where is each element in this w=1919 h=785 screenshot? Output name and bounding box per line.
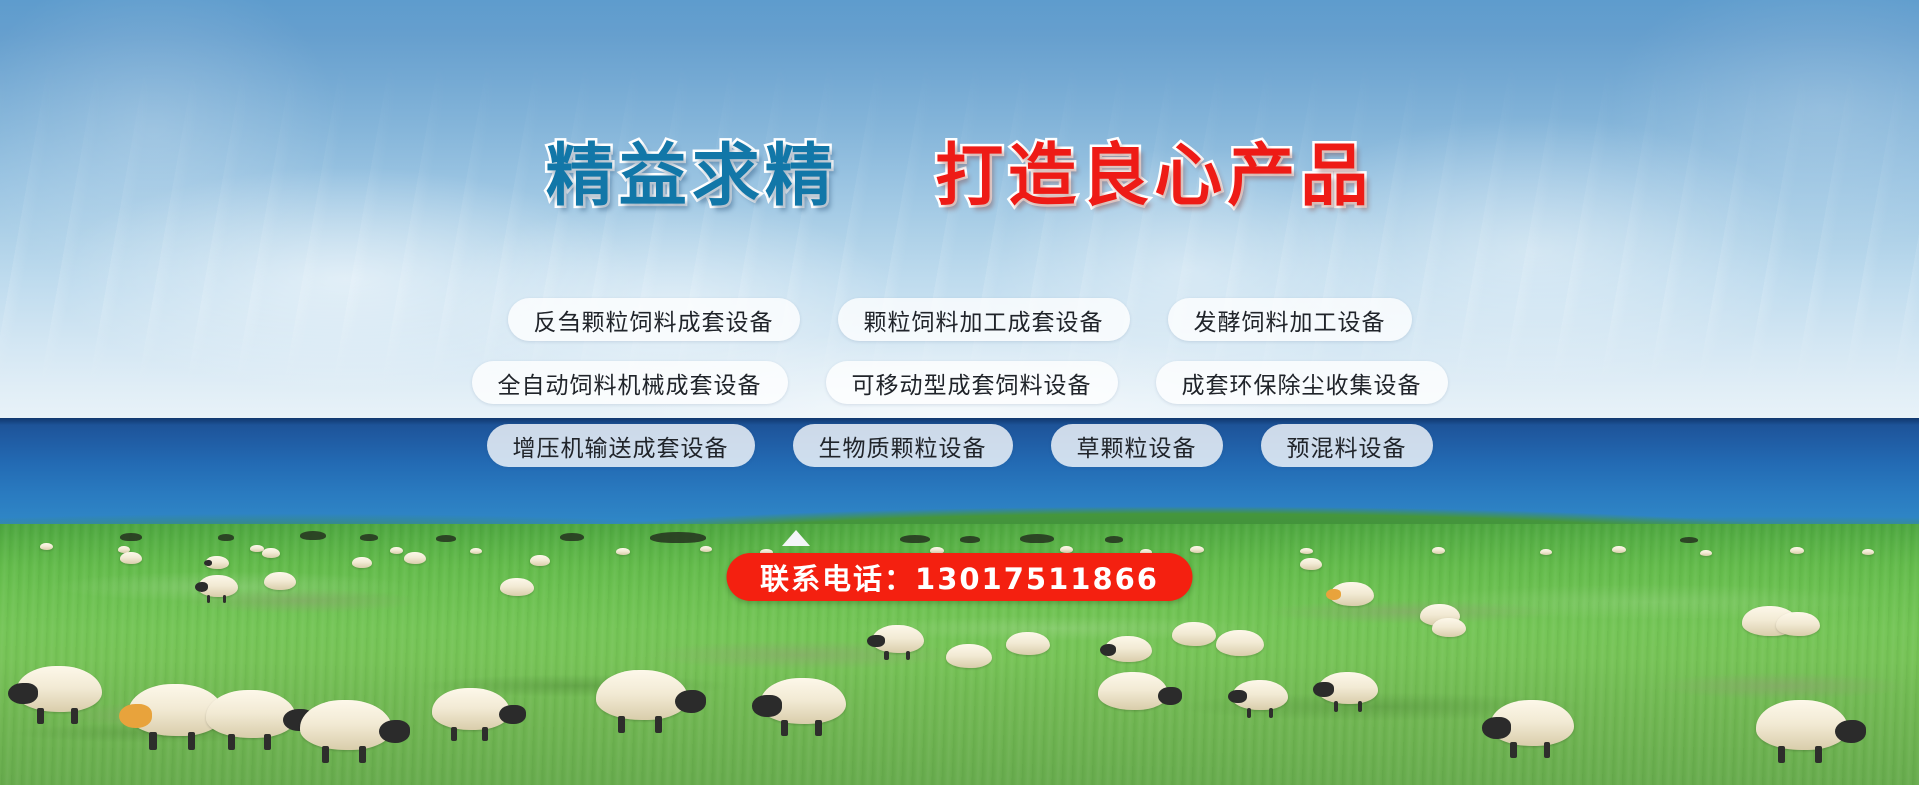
sheep [872,625,924,653]
sheep [40,543,53,550]
product-tag-list: 反刍颗粒饲料成套设备 颗粒饲料加工成套设备 发酵饲料加工设备 全自动饲料机械成套… [0,298,1919,487]
horizon-scrub [360,534,378,541]
page-title: 精益求精 打造良心产品 [0,140,1919,211]
sheep [1700,550,1712,556]
horizon-scrub [300,531,326,540]
sheep [1490,700,1574,746]
product-tag[interactable]: 成套环保除尘收集设备 [1156,361,1448,404]
sheep [1612,546,1626,553]
sheep [1172,622,1216,646]
product-tag[interactable]: 全自动饲料机械成套设备 [472,361,788,404]
sheep [1432,618,1466,637]
horizon-scrub [436,535,456,542]
sheep [760,678,846,724]
sheep [1060,546,1073,553]
sheep [1790,547,1804,554]
sheep [198,575,238,597]
product-tag[interactable]: 增压机输送成套设备 [487,424,755,467]
sheep [390,547,403,554]
product-tag[interactable]: 发酵饲料加工设备 [1168,298,1412,341]
sheep [432,688,510,730]
sheep [1216,630,1264,656]
sheep [264,572,296,590]
sheep [1540,549,1552,555]
sheep [470,548,482,554]
sheep [120,552,142,564]
sheep [352,557,372,568]
horizon-scrub [650,532,706,543]
horizon-scrub [960,536,980,543]
sheep [1756,700,1848,750]
sheep [1232,680,1288,710]
horizon-scrub [218,534,234,541]
sheep [404,552,426,564]
headline-red-text: 打造良心产品 [935,143,1373,211]
sheep [1098,672,1168,710]
sheep [1190,546,1204,553]
sheep [530,555,550,566]
sheep [206,690,296,738]
sheep [16,666,102,712]
horizon-scrub [1680,537,1698,543]
sheep [205,556,229,569]
sheep [616,548,630,555]
product-tag[interactable]: 生物质颗粒设备 [793,424,1013,467]
sheep [262,548,280,558]
product-tag-row-1: 反刍颗粒饲料成套设备 颗粒饲料加工成套设备 发酵饲料加工设备 [0,298,1919,341]
contact-phone-banner[interactable]: 联系电话：13017511866 [726,553,1193,601]
horizon-scrub [120,533,142,541]
horizon-scrub [900,535,930,543]
sheep [1300,558,1322,570]
product-tag-row-2: 全自动饲料机械成套设备 可移动型成套饲料设备 成套环保除尘收集设备 [0,361,1919,404]
sheep [1104,636,1152,662]
yurt-icon [782,530,810,546]
sheep [1776,612,1820,636]
dirt-patch [1260,600,1560,624]
sheep [1432,547,1445,554]
dirt-patch [1650,672,1910,700]
product-tag[interactable]: 预混料设备 [1261,424,1433,467]
sheep [1330,582,1374,606]
sheep [700,546,712,552]
sheep [500,578,534,596]
sheep [946,644,992,668]
sheep [1862,549,1874,555]
product-tag-row-3: 增压机输送成套设备 生物质颗粒设备 草颗粒设备 预混料设备 [0,424,1919,467]
sheep [1318,672,1378,704]
sheep [300,700,392,750]
headline-blue-text: 精益求精 [546,143,838,211]
sheep [596,670,688,720]
sheep [1300,548,1313,554]
horizon-scrub [1105,536,1123,543]
product-tag[interactable]: 可移动型成套饲料设备 [826,361,1118,404]
promo-banner: 精益求精 打造良心产品 反刍颗粒饲料成套设备 颗粒饲料加工成套设备 发酵饲料加工… [0,0,1919,785]
product-tag[interactable]: 反刍颗粒饲料成套设备 [508,298,800,341]
horizon-scrub [560,533,584,541]
horizon-scrub [1020,534,1054,543]
product-tag[interactable]: 草颗粒设备 [1051,424,1223,467]
product-tag[interactable]: 颗粒饲料加工成套设备 [838,298,1130,341]
sheep [1006,632,1050,655]
